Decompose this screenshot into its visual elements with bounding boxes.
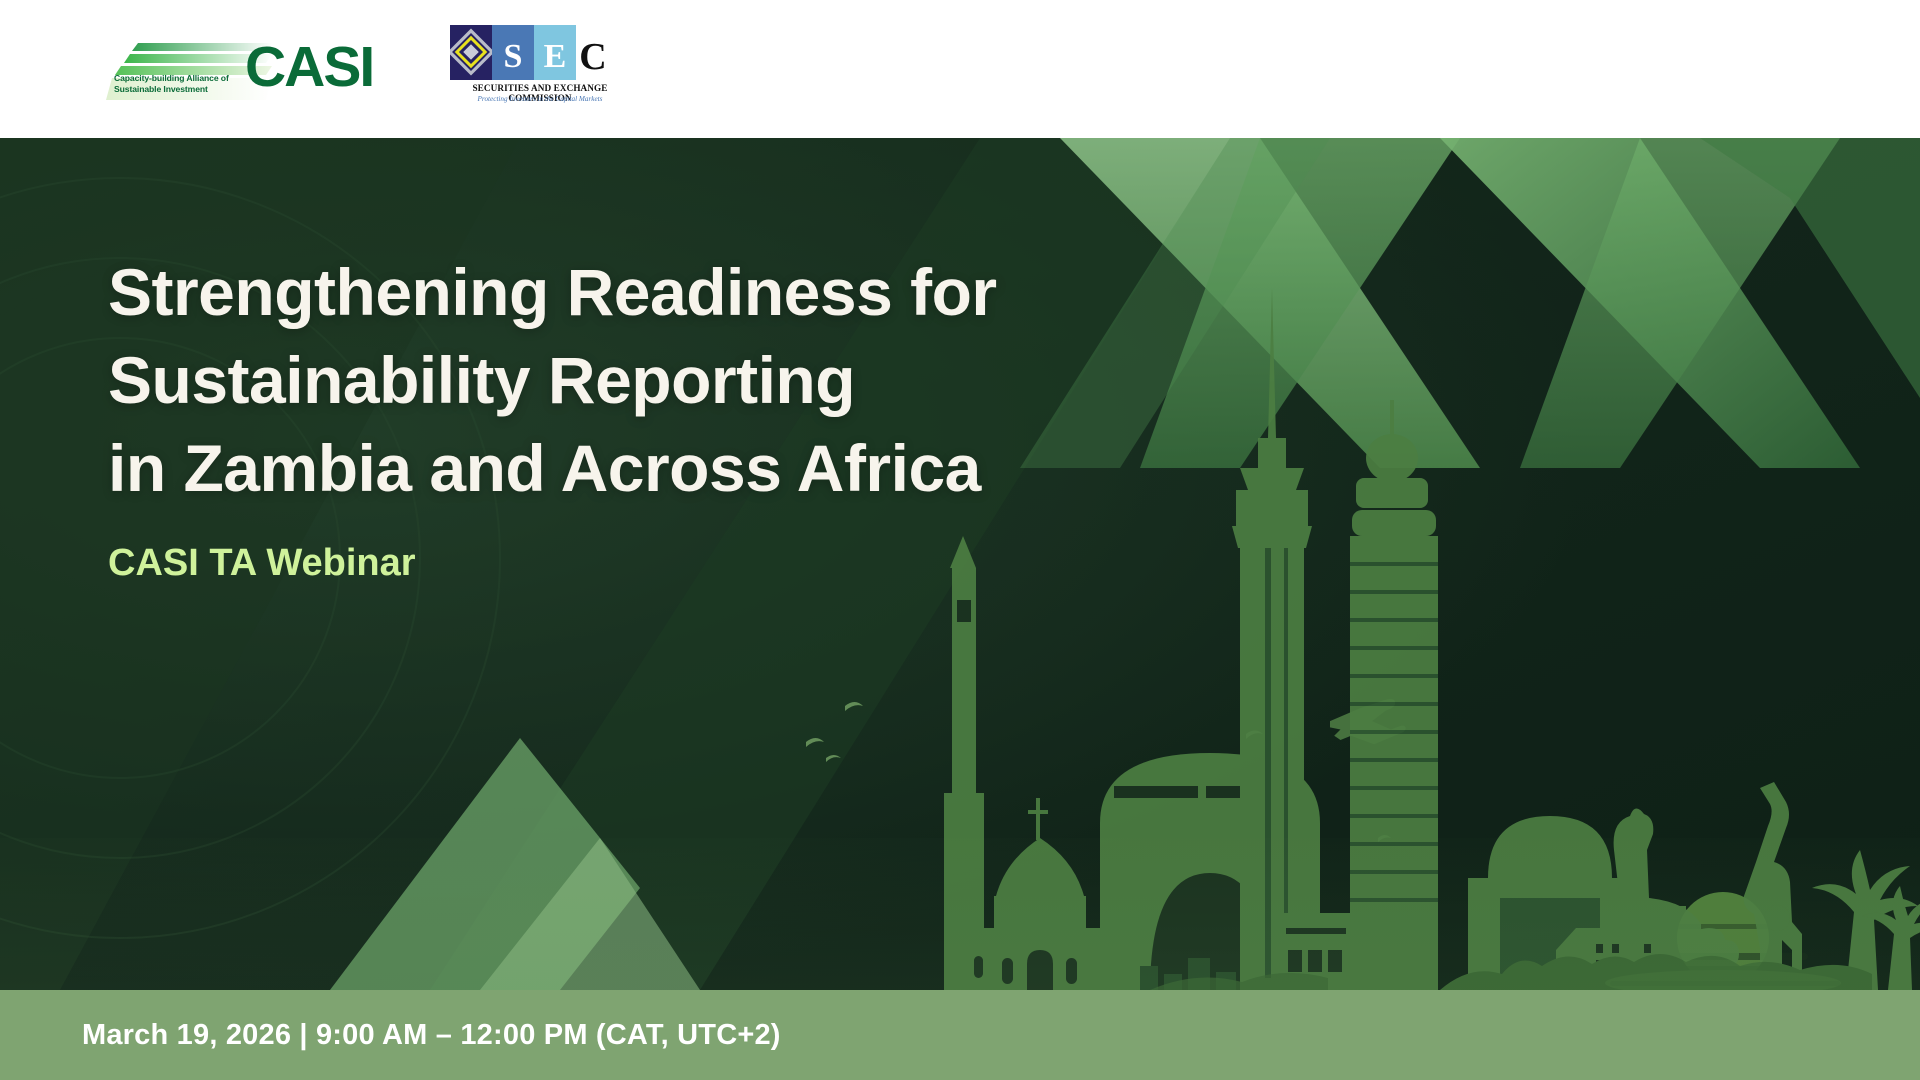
date-time-bar: March 19, 2026 | 9:00 AM – 12:00 PM (CAT… (0, 990, 1920, 1080)
webinar-banner: Capacity-building Alliance of Sustainabl… (0, 0, 1920, 1080)
sec-logo: S E C SECURITIES AND EXCHANGE COMMISSION… (440, 25, 640, 113)
sec-diamond-icon (450, 25, 492, 80)
title-line-1: Strengthening Readiness for (108, 248, 997, 336)
hero-text-block: Strengthening Readiness for Sustainabili… (108, 248, 997, 585)
casi-wordmark: CASI (245, 33, 373, 101)
title-line-2: Sustainability Reporting (108, 336, 997, 424)
hero-section: Strengthening Readiness for Sustainabili… (0, 138, 1920, 990)
sec-tagline: Protecting Investors in the Capital Mark… (440, 95, 640, 103)
sec-letter-s-tile: S (492, 25, 534, 80)
logo-bar: Capacity-building Alliance of Sustainabl… (0, 0, 1920, 138)
sec-diamond-tile (450, 25, 492, 80)
casi-tagline: Capacity-building Alliance of Sustainabl… (114, 73, 242, 94)
sec-letter-s: S (492, 25, 534, 80)
title-line-3: in Zambia and Across Africa (108, 424, 997, 512)
casi-tagline-line2: Sustainable Investment (114, 84, 242, 95)
casi-logo: Capacity-building Alliance of Sustainabl… (100, 33, 375, 105)
page-subtitle: CASI TA Webinar (108, 542, 997, 585)
page-title: Strengthening Readiness for Sustainabili… (108, 248, 997, 512)
sec-letter-e-tile: E (534, 25, 576, 80)
sec-letter-c: C (576, 25, 610, 80)
date-time-text: March 19, 2026 | 9:00 AM – 12:00 PM (CAT… (82, 1019, 781, 1052)
sec-logo-marks: S E C (450, 25, 610, 80)
casi-tagline-line1: Capacity-building Alliance of (114, 73, 242, 84)
sec-letter-e: E (534, 25, 576, 80)
